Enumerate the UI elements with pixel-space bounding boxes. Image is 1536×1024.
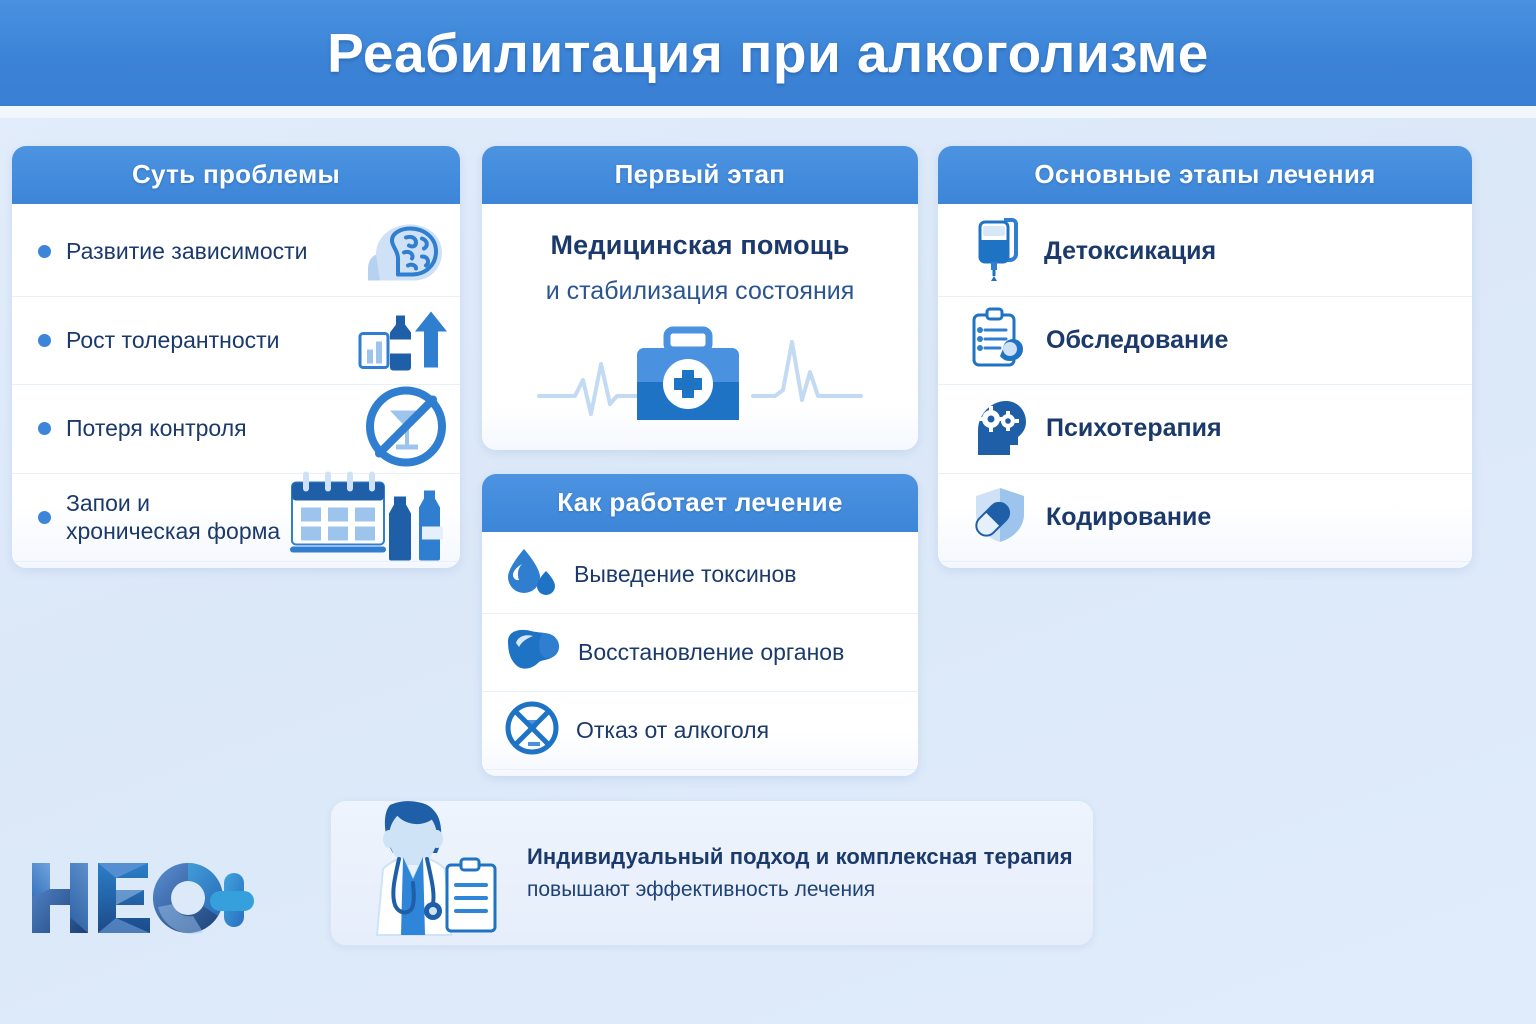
calendar-bottles-icon xyxy=(288,469,448,566)
page-header: Реабилитация при алкоголизме xyxy=(0,0,1536,106)
list-item-label: Потеря контроля xyxy=(66,414,247,443)
pill-shield-icon xyxy=(970,486,1028,549)
list-item[interactable]: Потеря контроля xyxy=(12,385,460,474)
list-item-label: Развитие зависимости xyxy=(66,237,308,266)
list-item-label: Обследование xyxy=(1046,326,1228,355)
treatment-stages-card-title: Основные этапы лечения xyxy=(938,146,1472,204)
list-item[interactable]: Психотерапия xyxy=(938,385,1472,474)
how-treatment-card: Как работает лечение Выведение токсинов xyxy=(482,474,918,776)
iv-drip-icon xyxy=(970,216,1026,287)
page-title: Реабилитация при алкоголизме xyxy=(327,21,1209,85)
first-stage-line1: Медицинская помощь xyxy=(500,230,900,261)
header-underline xyxy=(0,106,1536,118)
first-stage-card: Первый этап Медицинская помощь и стабили… xyxy=(482,146,918,450)
treatment-stages-card: Основные этапы лечения Детоксикация xyxy=(938,146,1472,568)
list-item-label: Детоксикация xyxy=(1044,237,1216,266)
problem-card-body: Развитие зависимости xyxy=(12,204,460,568)
list-item[interactable]: Развитие зависимости xyxy=(12,208,460,297)
list-item-label: Психотерапия xyxy=(1046,414,1222,443)
list-item[interactable]: Обследование xyxy=(938,297,1472,386)
list-item-label: Запои и хроническая форма xyxy=(66,489,280,547)
list-item-label: Отказ от алкоголя xyxy=(576,717,769,744)
brain-head-icon xyxy=(362,218,448,285)
first-stage-card-body: Медицинская помощь и стабилизация состоя… xyxy=(482,204,918,450)
no-alcohol-glass-icon xyxy=(364,384,448,473)
summary-banner-line1: Индивидуальный подход и комплексная тера… xyxy=(527,844,1073,870)
how-treatment-card-title: Как работает лечение xyxy=(482,474,918,532)
first-aid-kit-ecg-icon xyxy=(482,306,918,444)
list-item-label: Выведение токсинов xyxy=(574,561,797,588)
list-item[interactable]: Запои и хроническая форма xyxy=(12,474,460,563)
brand-logo xyxy=(28,855,254,946)
how-treatment-card-body: Выведение токсинов Восстановление органо… xyxy=(482,532,918,776)
bullet-icon xyxy=(38,422,51,435)
bullet-icon xyxy=(38,334,51,347)
first-stage-line2: и стабилизация состояния xyxy=(500,277,900,306)
list-item-label: Рост толерантности xyxy=(66,326,280,355)
summary-banner-line2: повышают эффективность лечения xyxy=(527,878,1073,902)
list-item-label-line2: хроническая форма xyxy=(66,518,280,544)
summary-banner-text: Индивидуальный подход и комплексная тера… xyxy=(527,844,1073,902)
bullet-icon xyxy=(38,245,51,258)
summary-banner: Индивидуальный подход и комплексная тера… xyxy=(330,800,1094,946)
list-item-label-line1: Запои и xyxy=(66,490,150,516)
clipboard-stethoscope-icon xyxy=(970,307,1028,374)
head-gears-icon xyxy=(970,395,1028,462)
problem-card-title: Суть проблемы xyxy=(12,146,460,204)
list-item[interactable]: Отказ от алкоголя xyxy=(482,692,918,770)
bottle-growth-arrow-icon xyxy=(358,304,448,377)
first-stage-card-title: Первый этап xyxy=(482,146,918,204)
list-item[interactable]: Рост толерантности xyxy=(12,297,460,386)
no-alcohol-wheel-icon xyxy=(504,700,560,761)
list-item[interactable]: Восстановление органов xyxy=(482,614,918,692)
list-item[interactable]: Кодирование xyxy=(938,474,1472,563)
doctor-clipboard-icon xyxy=(355,801,505,946)
treatment-stages-card-body: Детоксикация xyxy=(938,204,1472,568)
list-item[interactable]: Детоксикация xyxy=(938,208,1472,297)
first-stage-text: Медицинская помощь и стабилизация состоя… xyxy=(482,208,918,306)
list-item-label: Кодирование xyxy=(1046,503,1211,532)
water-drops-icon xyxy=(504,545,558,604)
problem-card: Суть проблемы Развитие зависимости xyxy=(12,146,460,568)
bullet-icon xyxy=(38,511,51,524)
list-item[interactable]: Выведение токсинов xyxy=(482,536,918,614)
liver-icon xyxy=(504,625,562,680)
list-item-label: Восстановление органов xyxy=(578,639,844,666)
